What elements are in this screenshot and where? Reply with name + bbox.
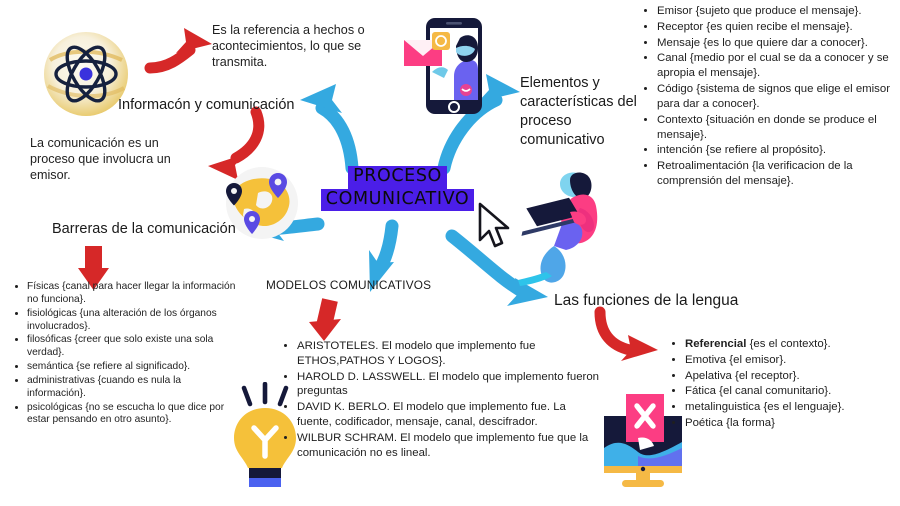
red-arrow-funciones — [600, 312, 658, 361]
central-node: PROCESO COMUNICATIVO — [305, 166, 490, 211]
list-item: HAROLD D. LASSWELL. El modelo que implem… — [297, 370, 602, 400]
branch-label-barreras: Barreras de la comunicación — [52, 220, 262, 239]
funciones-item-rest: {es el contexto}. — [746, 338, 830, 350]
list-item: DAVID K. BERLO. El modelo que implemento… — [297, 400, 602, 430]
funciones-list: Referencial {es el contexto}. Emotiva {e… — [672, 337, 900, 432]
list-item: Contexto {situación en donde se produce … — [657, 113, 900, 143]
red-arrow-top-left — [150, 28, 212, 68]
list-item: WILBUR SCHRAM. El modelo que implemento … — [297, 431, 602, 461]
note-es-la-referencia: Es la referencia a hechos o acontecimien… — [212, 22, 392, 70]
list-item: Canal {medio por el cual se da a conocer… — [657, 51, 900, 81]
list-item: ARISTOTELES. El modelo que implemento fu… — [297, 339, 602, 369]
list-item: Retroalimentación {la verificacion de la… — [657, 159, 900, 189]
note-la-comunicacion: La comunicación es un proceso que involu… — [30, 135, 195, 183]
list-item: Físicas {canal para hacer llegar la info… — [27, 281, 237, 307]
branch-label-funciones: Las funciones de la lengua — [554, 292, 738, 310]
barreras-list: Físicas {canal para hacer llegar la info… — [14, 281, 237, 428]
list-item: Referencial {es el contexto}. — [685, 337, 900, 352]
central-node-line1: PROCESO — [348, 166, 447, 189]
branch-label-informacion: Informacón y comunicación — [118, 96, 308, 115]
funciones-item-strong: Referencial — [685, 338, 746, 350]
list-item: Código {sistema de signos que elige el e… — [657, 82, 900, 112]
list-item: filosóficas {creer que solo existe una s… — [27, 334, 237, 360]
elementos-list: Emisor {sujeto que produce el mensaje}. … — [644, 4, 900, 190]
list-item: Receptor {es quien recibe el mensaje}. — [657, 20, 900, 35]
list-item: Poética {la forma} — [685, 416, 900, 431]
person-with-laptop-icon — [508, 168, 608, 286]
list-item: metalinguistica {es el lenguaje}. — [685, 400, 900, 415]
mindmap-canvas: Es la referencia a hechos o acontecimien… — [0, 0, 900, 506]
modelos-list: ARISTOTELES. El modelo que implemento fu… — [284, 339, 602, 462]
list-item: Mensaje {es lo que quiere dar a conocer}… — [657, 36, 900, 51]
red-arrow-modelos — [309, 300, 341, 341]
list-item: intención {se refiere al propósito}. — [657, 143, 900, 158]
central-node-line2: COMUNICATIVO — [321, 189, 474, 212]
list-item: Fática {el canal comunitario}. — [685, 384, 900, 399]
list-item: fisiológicas {una alteración de los órga… — [27, 308, 237, 334]
list-item: Emisor {sujeto que produce el mensaje}. — [657, 4, 900, 19]
list-item: psicológicas {no se escucha lo que dice … — [27, 402, 237, 428]
list-item: semántica {se refiere al significado}. — [27, 361, 237, 374]
branch-label-modelos: MODELOS COMUNICATIVOS — [266, 278, 431, 292]
list-item: administrativas {cuando es nula la infor… — [27, 375, 237, 401]
branch-label-elementos: Elementos y características del proceso … — [520, 74, 640, 149]
smartphone-videocall-icon — [398, 4, 494, 120]
list-item: Emotiva {el emisor}. — [685, 353, 900, 368]
list-item: Apelativa {el receptor}. — [685, 369, 900, 384]
